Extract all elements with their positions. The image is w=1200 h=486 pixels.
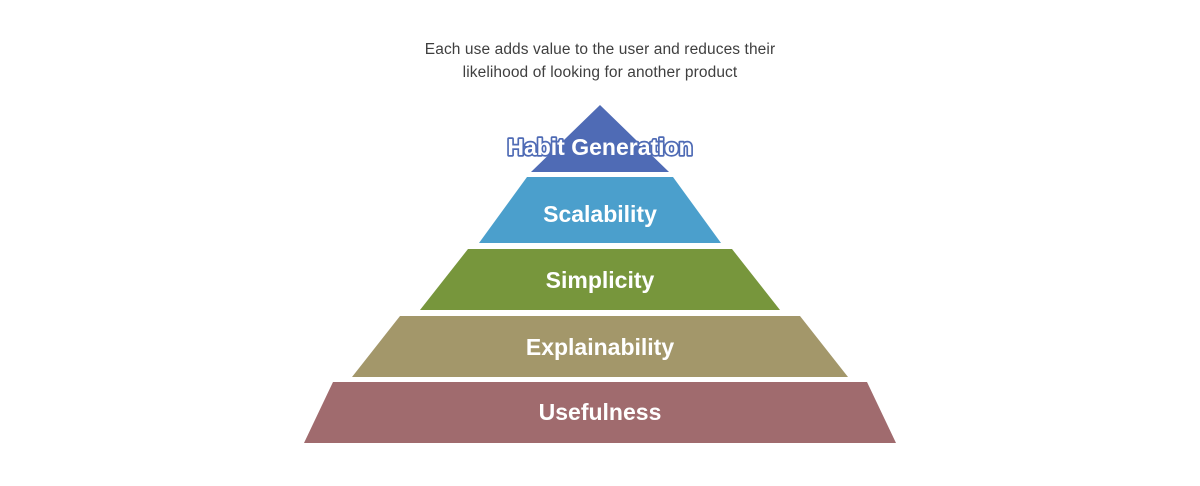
tier-label-habit-generation: Habit Generation [507, 134, 692, 160]
tier-label-usefulness: Usefulness [539, 399, 662, 425]
pyramid-tier-explainability[interactable]: Explainability [352, 316, 848, 377]
pyramid-tier-simplicity[interactable]: Simplicity [420, 249, 780, 310]
pyramid-svg: Habit Generation Scalability Simplicity … [0, 0, 1200, 486]
pyramid-diagram: Habit Generation Scalability Simplicity … [0, 0, 1200, 486]
pyramid-tier-usefulness[interactable]: Usefulness [304, 382, 896, 443]
tier-label-simplicity: Simplicity [546, 267, 655, 293]
pyramid-tier-scalability[interactable]: Scalability [479, 177, 721, 243]
pyramid-tier-habit-generation[interactable]: Habit Generation [507, 105, 692, 172]
tier-label-scalability: Scalability [543, 201, 657, 227]
diagram-canvas: Each use adds value to the user and redu… [0, 0, 1200, 486]
tier-label-explainability: Explainability [526, 334, 674, 360]
